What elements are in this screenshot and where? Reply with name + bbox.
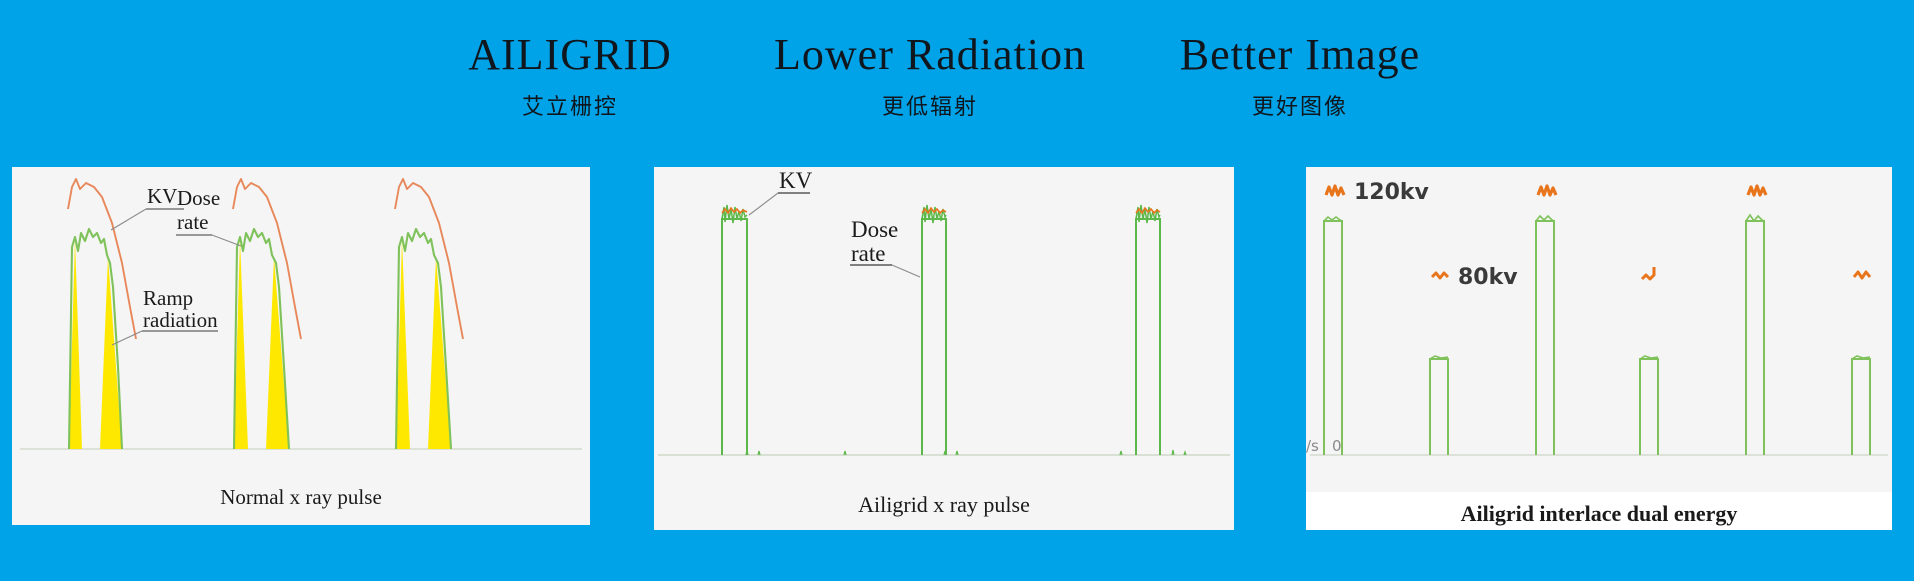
panel-caption-normal: Normal x ray pulse [12, 485, 590, 510]
legend-label-120kv: 120kv [1354, 180, 1430, 205]
normal-pulse-svg: KV Dose rate Ramp radiation [12, 167, 590, 477]
page-header: AILIGRID 艾立栅控 Lower Radiation 更低辐射 Bette… [0, 0, 1914, 150]
kv-leader-line [111, 209, 146, 230]
baseline-ticks [746, 450, 1186, 455]
dose-annotation-label-1: Dose [177, 186, 220, 210]
kv-annotation-label: KV [147, 184, 177, 208]
pulse-120kv [1746, 221, 1764, 455]
ramp-annotation-label-2: radiation [143, 308, 218, 332]
dose-rate-square-pulse [1136, 219, 1160, 455]
dose-annotation-label-2: rate [177, 210, 208, 234]
pulse-80kv [1640, 359, 1658, 455]
axis-zero-label: 0 [1332, 437, 1342, 455]
plot-normal-x-ray-pulse: KV Dose rate Ramp radiation [12, 167, 590, 477]
interlace-dual-energy-svg: /s 0 [1306, 167, 1892, 492]
header-title-zh-2: 更好图像 [1000, 89, 1600, 121]
panel-caption-interlace: Ailigrid interlace dual energy [1306, 497, 1892, 530]
chart-panel-normal-x-ray-pulse: KV Dose rate Ramp radiation Normal x ray… [12, 167, 590, 525]
dose-rate-noise-top [922, 205, 946, 223]
ramp-radiation-fill [428, 257, 451, 449]
ramp-radiation-fill [100, 257, 122, 449]
dose-leader-line [212, 235, 241, 246]
panel-caption-ailigrid: Ailigrid x ray pulse [654, 492, 1234, 518]
kv-burst-marker-120-2 [1538, 186, 1556, 195]
plot-ailigrid-x-ray-pulse: KV Dose rate [654, 167, 1234, 482]
dose-annotation-label-2: rate [851, 241, 885, 266]
dose-leader-line [892, 265, 920, 277]
dose-rate-square-pulse [722, 219, 747, 455]
kv-burst-marker-120-1 [1326, 186, 1344, 195]
kv-burst-marker-80-1 [1432, 273, 1448, 278]
pulse-120kv [1324, 221, 1342, 455]
kv-leader-line [749, 193, 778, 215]
pulse-80kv [1430, 359, 1448, 455]
kv-burst-marker-80-2 [1642, 267, 1654, 279]
kv-annotation-label: KV [779, 168, 813, 193]
pulse-120kv [1536, 221, 1554, 455]
dose-rate-square-pulse [922, 219, 946, 455]
header-column-better-image: Better Image 更好图像 [1000, 30, 1600, 121]
kv-burst-marker-80-3 [1854, 272, 1870, 278]
ramp-radiation-fill [266, 257, 289, 449]
axis-unit-label: /s [1306, 437, 1319, 455]
chart-panel-ailigrid-interlace-dual-energy: /s 0 [1306, 167, 1892, 530]
dose-rate-noise-top [722, 205, 747, 223]
pulse-80kv [1852, 359, 1870, 455]
ailigrid-pulse-svg: KV Dose rate [654, 167, 1234, 482]
dose-annotation-label-1: Dose [851, 217, 898, 242]
kv-burst-marker-120-3 [1748, 186, 1766, 195]
plot-ailigrid-interlace-dual-energy: /s 0 [1306, 167, 1892, 492]
dose-rate-noise-top [1136, 205, 1160, 223]
ramp-annotation-label-1: Ramp [143, 286, 193, 310]
chart-panel-ailigrid-x-ray-pulse: KV Dose rate Ailigrid x ray pulse [654, 167, 1234, 530]
kv-curve [233, 179, 301, 339]
kv-curve [68, 179, 136, 339]
legend-label-80kv: 80kv [1458, 265, 1518, 290]
kv-curve [395, 179, 463, 339]
header-title-en-2: Better Image [1000, 30, 1600, 79]
